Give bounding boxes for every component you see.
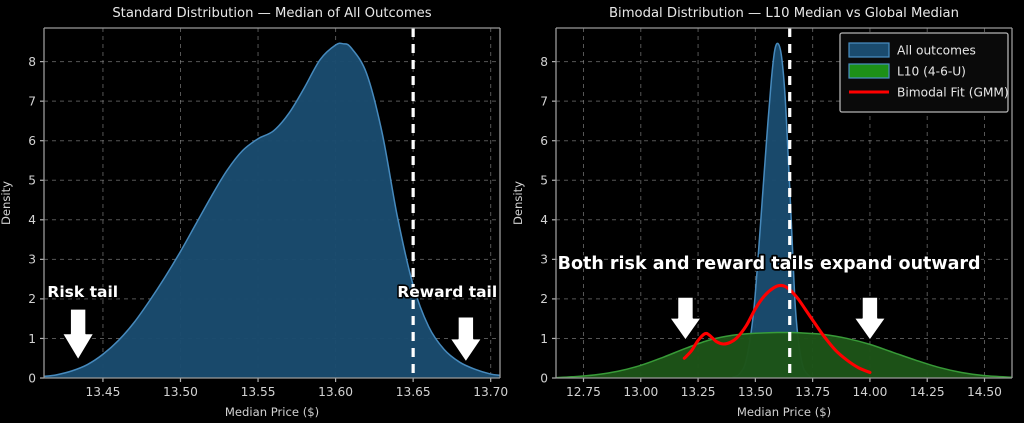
- legend-swatch-1: [849, 64, 889, 78]
- legend-label-1: L10 (4-6-U): [897, 64, 966, 78]
- bimodal-distribution-chart: Bimodal Distribution — L10 Median vs Glo…: [512, 0, 1024, 423]
- panel-bimodal-distribution: Bimodal Distribution — L10 Median vs Glo…: [512, 0, 1024, 423]
- x-tick-label: 13.65: [396, 385, 431, 399]
- y-tick-label: 7: [540, 94, 548, 108]
- x-axis-label: Median Price ($): [225, 405, 319, 419]
- legend-label-0: All outcomes: [897, 43, 976, 57]
- x-axis-label: Median Price ($): [737, 405, 831, 419]
- y-tick-label: 3: [28, 253, 36, 267]
- panel-standard-distribution: Standard Distribution — Median of All Ou…: [0, 0, 512, 423]
- x-tick-label: 13.50: [738, 385, 773, 399]
- y-tick-label: 1: [540, 332, 548, 346]
- y-tick-label: 6: [540, 134, 548, 148]
- x-tick-label: 13.50: [163, 385, 198, 399]
- y-tick-label: 0: [28, 371, 36, 385]
- annotation-label-1: Reward tail: [397, 283, 497, 301]
- y-tick-label: 3: [540, 253, 548, 267]
- x-tick-label: 13.60: [318, 385, 353, 399]
- y-tick-label: 6: [28, 134, 36, 148]
- x-tick-label: 14.50: [967, 385, 1002, 399]
- y-tick-label: 2: [540, 292, 548, 306]
- y-axis-label: Density: [512, 181, 525, 225]
- x-tick-label: 13.45: [85, 385, 120, 399]
- y-tick-label: 0: [540, 371, 548, 385]
- annotation-label-0: Risk tail: [47, 283, 118, 301]
- x-tick-label: 13.70: [473, 385, 508, 399]
- y-tick-label: 5: [28, 174, 36, 188]
- y-tick-label: 5: [540, 174, 548, 188]
- standard-distribution-chart: Standard Distribution — Median of All Ou…: [0, 0, 512, 423]
- y-tick-label: 8: [540, 55, 548, 69]
- figure-root: Standard Distribution — Median of All Ou…: [0, 0, 1024, 423]
- panel-title: Bimodal Distribution — L10 Median vs Glo…: [609, 6, 959, 21]
- y-axis-label: Density: [0, 181, 13, 225]
- y-tick-label: 8: [28, 55, 36, 69]
- panel-title: Standard Distribution — Median of All Ou…: [112, 6, 431, 21]
- x-tick-label: 14.00: [852, 385, 887, 399]
- legend-swatch-0: [849, 43, 889, 57]
- x-tick-label: 13.75: [795, 385, 830, 399]
- x-tick-label: 13.55: [241, 385, 276, 399]
- y-tick-label: 4: [540, 213, 548, 227]
- x-tick-label: 12.75: [566, 385, 601, 399]
- y-tick-label: 1: [28, 332, 36, 346]
- annotation-label-0: Both risk and reward tails expand outwar…: [558, 254, 981, 274]
- x-tick-label: 13.00: [623, 385, 658, 399]
- x-tick-label: 14.25: [910, 385, 945, 399]
- y-tick-label: 2: [28, 292, 36, 306]
- x-tick-label: 13.25: [681, 385, 716, 399]
- y-tick-label: 7: [28, 94, 36, 108]
- y-tick-label: 4: [28, 213, 36, 227]
- legend-label-2: Bimodal Fit (GMM): [897, 85, 1009, 99]
